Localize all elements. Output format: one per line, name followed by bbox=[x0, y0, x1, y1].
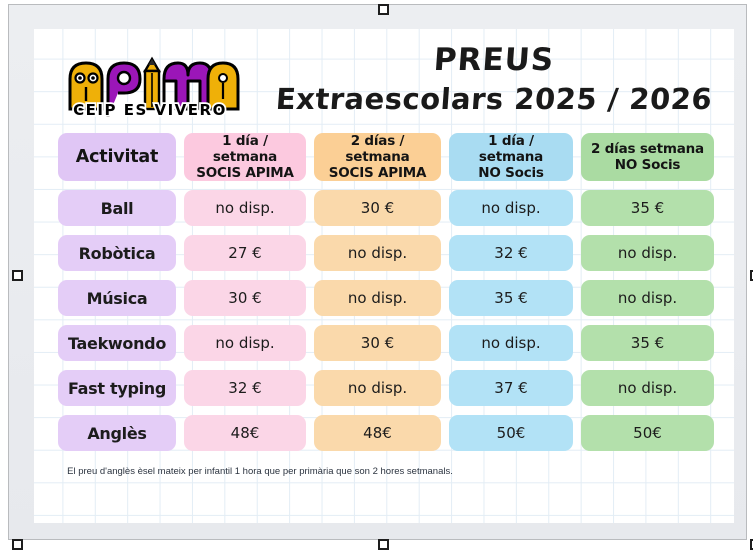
cell-activity: Fast typing bbox=[58, 370, 176, 406]
header-label-socis-2dies: 2 días / setmana SOCIS APIMA bbox=[320, 133, 435, 181]
cell-nosocis-1dia: 37 € bbox=[449, 370, 573, 406]
cell-nosocis-1dia: no disp. bbox=[449, 190, 573, 226]
cell-nosocis-2dies: no disp. bbox=[581, 235, 714, 271]
apima-logo-subtitle: CEIP ES VIVERO bbox=[73, 101, 227, 119]
cell-activity: Anglès bbox=[58, 415, 176, 451]
cell-socis-2dies: no disp. bbox=[314, 280, 441, 316]
cell-socis-1dia: 30 € bbox=[184, 280, 306, 316]
header-label-socis-1dia: 1 día / setmana SOCIS APIMA bbox=[190, 133, 300, 181]
header-label-nosocis-1dia-line1: 1 día / setmana bbox=[479, 133, 543, 165]
table-row: Fast typing 32 € no disp. 37 € no disp. bbox=[58, 370, 718, 406]
cell-nosocis-2dies: 35 € bbox=[581, 190, 714, 226]
cell-nosocis-2dies: no disp. bbox=[581, 280, 714, 316]
title-line-1: PREUS bbox=[263, 41, 726, 79]
header-label-socis-2dies-line2: SOCIS APIMA bbox=[329, 165, 427, 181]
cell-activity: Taekwondo bbox=[58, 325, 176, 361]
header-cell-nosocis-1dia: 1 día / setmana NO Socis bbox=[449, 133, 573, 181]
header-label-nosocis-2dies: 2 días setmana NO Socis bbox=[591, 141, 704, 173]
header-label-nosocis-2dies-line2: NO Socis bbox=[615, 157, 681, 173]
header-cell-nosocis-2dies: 2 días setmana NO Socis bbox=[581, 133, 714, 181]
cell-socis-2dies: 30 € bbox=[314, 190, 441, 226]
cell-nosocis-2dies: 50€ bbox=[581, 415, 714, 451]
cell-socis-1dia: 27 € bbox=[184, 235, 306, 271]
table-row: Taekwondo no disp. 30 € no disp. 35 € bbox=[58, 325, 718, 361]
header-cell-socis-2dies: 2 días / setmana SOCIS APIMA bbox=[314, 133, 441, 181]
apima-logo-icon: CEIP ES VIVERO bbox=[60, 53, 240, 119]
cell-activity: Robòtica bbox=[58, 235, 176, 271]
resize-handle-middle-left[interactable] bbox=[12, 270, 23, 281]
apima-logo: CEIP ES VIVERO bbox=[60, 53, 240, 119]
prices-table: Activitat 1 día / setmana SOCIS APIMA 2 … bbox=[58, 133, 718, 460]
table-header-row: Activitat 1 día / setmana SOCIS APIMA 2 … bbox=[58, 133, 718, 181]
table-row: Ball no disp. 30 € no disp. 35 € bbox=[58, 190, 718, 226]
header-label-nosocis-1dia: 1 día / setmana NO Socis bbox=[455, 133, 567, 181]
header-cell-socis-1dia: 1 día / setmana SOCIS APIMA bbox=[184, 133, 306, 181]
title-line-2: Extraescolars 2025 / 2026 bbox=[263, 79, 726, 119]
header-label-socis-2dies-line1: 2 días / setmana bbox=[345, 133, 409, 165]
cell-nosocis-2dies: 35 € bbox=[581, 325, 714, 361]
header-label-nosocis-1dia-line2: NO Socis bbox=[478, 165, 544, 181]
cell-socis-1dia: 48€ bbox=[184, 415, 306, 451]
slide-editor-canvas: CEIP ES VIVERO PREUS Extraescolars 2025 … bbox=[0, 0, 753, 547]
header-label-activitat: Activitat bbox=[76, 149, 158, 165]
grid-paper-background: CEIP ES VIVERO PREUS Extraescolars 2025 … bbox=[34, 29, 734, 523]
cell-nosocis-1dia: 32 € bbox=[449, 235, 573, 271]
header-label-socis-1dia-line1: 1 día / setmana bbox=[213, 133, 277, 165]
cell-nosocis-2dies: no disp. bbox=[581, 370, 714, 406]
header-label-nosocis-2dies-line1: 2 días setmana bbox=[591, 141, 704, 157]
cell-nosocis-1dia: 50€ bbox=[449, 415, 573, 451]
cell-socis-2dies: 48€ bbox=[314, 415, 441, 451]
cell-activity: Música bbox=[58, 280, 176, 316]
cell-socis-2dies: 30 € bbox=[314, 325, 441, 361]
cell-socis-1dia: no disp. bbox=[184, 325, 306, 361]
cell-nosocis-1dia: no disp. bbox=[449, 325, 573, 361]
resize-handle-bottom-left[interactable] bbox=[12, 539, 23, 550]
cell-nosocis-1dia: 35 € bbox=[449, 280, 573, 316]
cell-socis-1dia: 32 € bbox=[184, 370, 306, 406]
cell-socis-1dia: no disp. bbox=[184, 190, 306, 226]
table-row: Anglès 48€ 48€ 50€ 50€ bbox=[58, 415, 718, 451]
footnote-text: El preu d'anglès èsel mateix per infanti… bbox=[60, 465, 460, 478]
table-row: Robòtica 27 € no disp. 32 € no disp. bbox=[58, 235, 718, 271]
cell-socis-2dies: no disp. bbox=[314, 235, 441, 271]
resize-handle-bottom-center[interactable] bbox=[378, 539, 389, 550]
resize-handle-top-center[interactable] bbox=[378, 4, 389, 15]
slide-selection-frame[interactable]: CEIP ES VIVERO PREUS Extraescolars 2025 … bbox=[8, 4, 747, 540]
header-cell-activitat: Activitat bbox=[58, 133, 176, 181]
table-row: Música 30 € no disp. 35 € no disp. bbox=[58, 280, 718, 316]
header-label-socis-1dia-line2: SOCIS APIMA bbox=[196, 165, 294, 181]
page-title: PREUS Extraescolars 2025 / 2026 bbox=[264, 41, 724, 119]
cell-socis-2dies: no disp. bbox=[314, 370, 441, 406]
cell-activity: Ball bbox=[58, 190, 176, 226]
